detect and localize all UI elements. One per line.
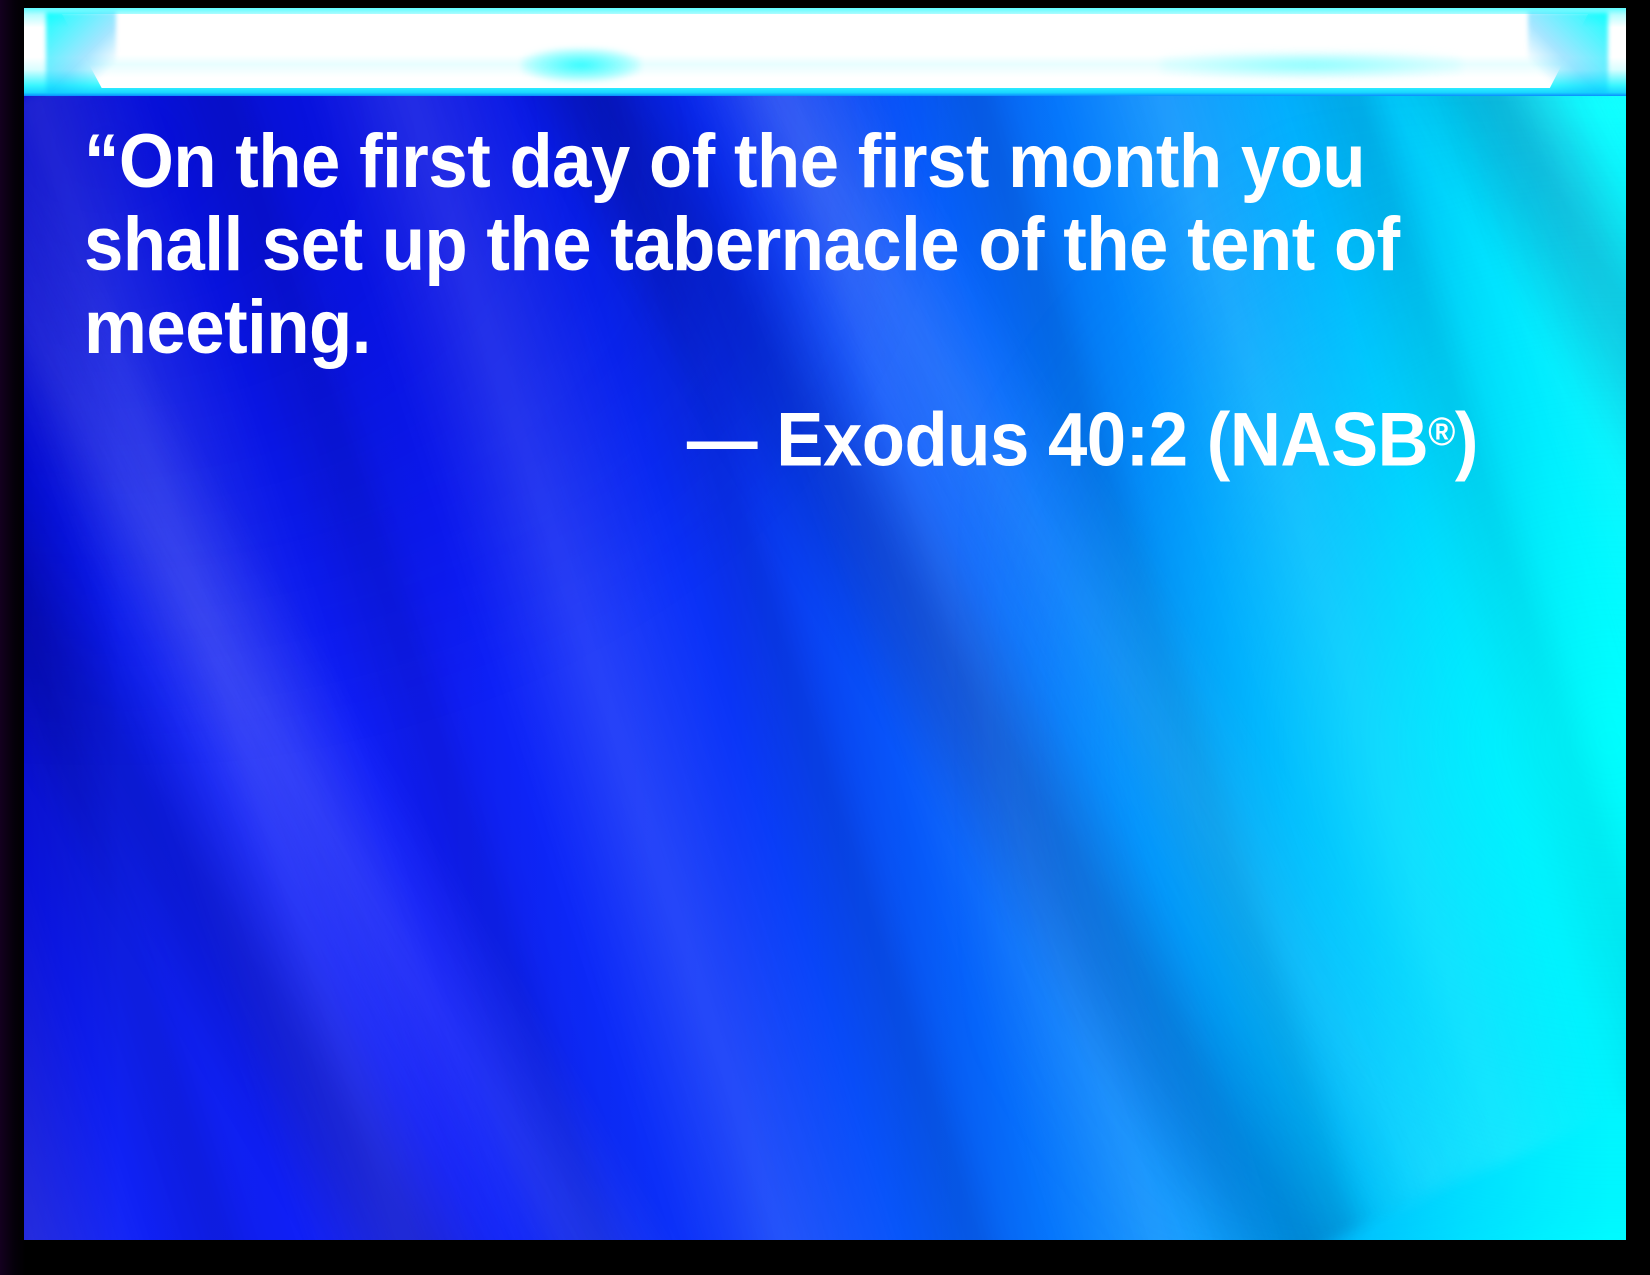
header-band-left-corner-highlight [46,12,116,94]
citation-open-paren: ( [1207,398,1230,483]
citation-spacer-3 [1188,398,1207,483]
citation-spacer-2 [1029,398,1048,483]
verse-line-3: meeting. [84,286,1405,369]
header-band-right-corner-highlight [1528,12,1608,94]
verse-line-2: shall set up the tabernacle of the tent … [84,203,1405,286]
background-cyan-glow [985,131,1626,1240]
citation-spacer-1 [757,398,776,483]
header-band-cyan-blob-left [521,48,641,82]
citation-chapter-verse: 40:2 [1048,398,1188,483]
header-band-cyan-blob-right [1161,52,1461,78]
background-secondary-streaks [24,8,1626,1240]
verse-citation: — Exodus 40:2 (NASB®) [183,391,1504,482]
verse-line-1: “On the first day of the first month you [84,120,1405,203]
citation-book: Exodus [776,398,1028,483]
citation-close-paren: ) [1455,398,1478,483]
citation-translation: NASB [1230,398,1428,483]
citation-em-dash: — [687,398,757,483]
header-band [24,8,1626,96]
verse-text-block: “On the first day of the first month you… [84,120,1504,482]
background-diagonal-streaks [24,8,1626,1240]
slide-background-canvas: “On the first day of the first month you… [24,8,1626,1240]
scripture-slide: “On the first day of the first month you… [0,0,1650,1275]
background-dark-upper-left-glow [24,8,921,747]
registered-trademark-icon: ® [1428,410,1455,454]
